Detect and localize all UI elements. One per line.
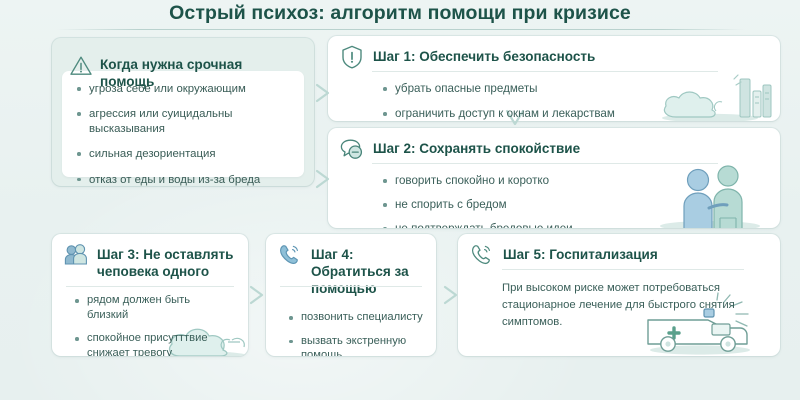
- warning-triangle-icon: [68, 53, 92, 77]
- step1-bullet-list: убрать опасные предметы ограничить досту…: [382, 81, 780, 121]
- step1-card-header: Шаг 1: Обеспечить безопасность: [328, 36, 780, 70]
- step1-header-divider: [372, 71, 718, 72]
- list-item: не спорить с бредом: [382, 197, 780, 212]
- step5-heading: Шаг 5: Госпитализация: [503, 243, 658, 263]
- two-persons-icon: [63, 242, 89, 268]
- step5-header-divider: [502, 269, 744, 270]
- page-title: Острый психоз: алгоритм помощи при кризи…: [0, 2, 800, 25]
- step4-card-header: Шаг 4: Обратиться за помощью: [266, 234, 436, 297]
- arrow-step3-to-step4: [246, 284, 268, 306]
- step2-card-header: Шаг 2: Сохранять спокойствие: [328, 128, 780, 162]
- speech-bubbles-icon: [339, 136, 365, 162]
- step4-header-divider: [280, 286, 422, 287]
- list-item: вызвать экстренную помощь: [288, 334, 430, 356]
- step3-bullet-list: рядом должен быть близкий спокойное прис…: [74, 293, 226, 356]
- list-item: рядом должен быть близкий: [74, 293, 226, 322]
- list-item: сильная дезориентация: [76, 147, 302, 162]
- list-item: позвонить специалисту: [288, 310, 430, 325]
- list-item: агрессия или суицидальны высказывания: [76, 107, 302, 137]
- list-item: ограничить доступ к окнам и лекарствам: [382, 106, 780, 121]
- step1-heading: Шаг 1: Обеспечить безопасность: [373, 45, 595, 65]
- arrow-emergency-to-step2: [312, 168, 334, 190]
- arrow-emergency-to-step1: [312, 82, 334, 104]
- step4-heading: Шаг 4: Обратиться за помощью: [311, 243, 424, 297]
- list-item: говорить спокойно и коротко: [382, 173, 780, 188]
- step4-card: Шаг 4: Обратиться за помощью позвонить с…: [266, 234, 436, 356]
- step3-card-header: Шаг 3: Не оставлять чеповека одного: [52, 234, 248, 280]
- step2-bullet-list: говорить спокойно и коротко не спорить с…: [382, 173, 780, 228]
- step2-heading: Шаг 2: Сохранять спокойствие: [373, 137, 580, 157]
- step2-header-divider: [372, 163, 718, 164]
- list-item: не подтверждать бредовые идеи: [382, 221, 780, 228]
- list-item: убрать опасные предметы: [382, 81, 780, 96]
- phone-ring-icon: [277, 242, 303, 268]
- step5-card: Шаг 5: Госпитализация При высоком риске …: [458, 234, 780, 356]
- arrow-step4-to-step5: [440, 284, 462, 306]
- emergency-bullet-list: угроза себе или окружающим агрессия или …: [76, 82, 302, 186]
- step1-card: Шаг 1: Обеспечить безопасность убрать оп…: [328, 36, 780, 121]
- list-item: отказ от еды и воды из-за бреда: [76, 173, 302, 186]
- step3-card: Шаг 3: Не оставлять чеповека одного рядо…: [52, 234, 248, 356]
- list-item: угроза себе или окружающим: [76, 82, 302, 97]
- phone-ring-icon: [469, 242, 495, 268]
- title-divider: [57, 29, 745, 30]
- emergency-card: Когда нужна срочная помощь угроза себе и…: [52, 38, 314, 186]
- step3-heading: Шаг 3: Не оставлять чеповека одного: [97, 243, 236, 280]
- shield-exclamation-icon: [339, 44, 365, 70]
- list-item: спокойное присутттвие снижает тревогу: [74, 331, 226, 356]
- step3-header-divider: [66, 286, 234, 287]
- step5-body-text: При высоком риске может потребоваться ст…: [502, 280, 740, 331]
- step4-bullet-list: позвонить специалисту вызвать экстренную…: [288, 310, 430, 356]
- step5-card-header: Шаг 5: Госпитализация: [458, 234, 780, 268]
- step2-card: Шаг 2: Сохранять спокойствие говорить сп…: [328, 128, 780, 228]
